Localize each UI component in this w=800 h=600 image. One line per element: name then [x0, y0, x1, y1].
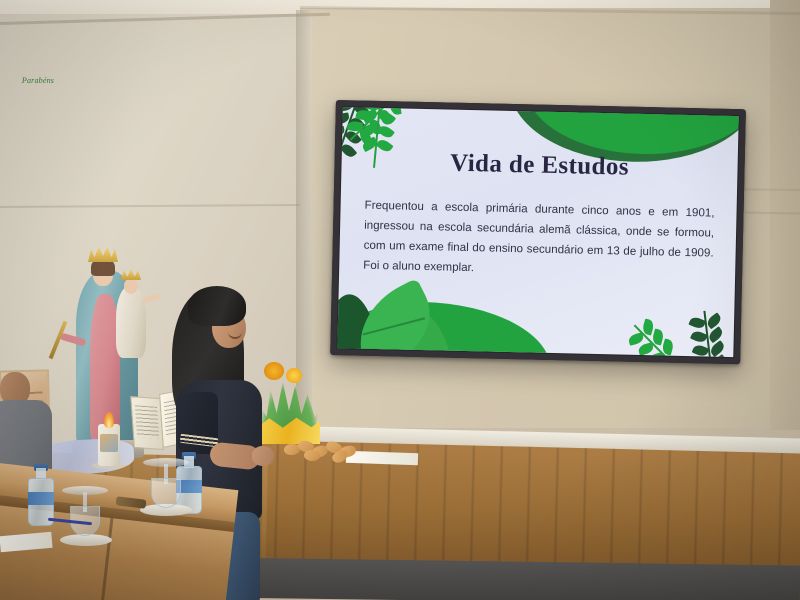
- wine-glass[interactable]: [143, 458, 189, 510]
- wall-mounted-tv[interactable]: Vida de Estudos Frequentou a escola prim…: [330, 100, 746, 364]
- child-jesus-figure: [116, 286, 146, 358]
- child-head: [124, 278, 138, 294]
- photo-scene: Vida de Estudos Frequentou a escola prim…: [0, 0, 800, 600]
- child-arm: [142, 294, 161, 304]
- ribbon-text: Parabéns: [2, 76, 74, 85]
- slide-body-text: Frequentou a escola primária durante cin…: [363, 196, 715, 284]
- bottle-label: [28, 492, 54, 505]
- right-wall-edge: [770, 0, 800, 430]
- child-crown-icon: [121, 268, 141, 280]
- candle-flame-icon: [104, 412, 114, 428]
- snacks-tray: [284, 440, 362, 460]
- water-bottle[interactable]: [28, 464, 54, 526]
- crown-icon: [88, 246, 118, 262]
- presenter-hand: [252, 446, 274, 466]
- wine-glass[interactable]: [62, 486, 108, 538]
- tv-screen: Vida de Estudos Frequentou a escola prim…: [337, 107, 738, 357]
- presenter-fringe: [188, 286, 246, 326]
- glass-bowl: [151, 478, 181, 508]
- candle-label: [100, 434, 118, 452]
